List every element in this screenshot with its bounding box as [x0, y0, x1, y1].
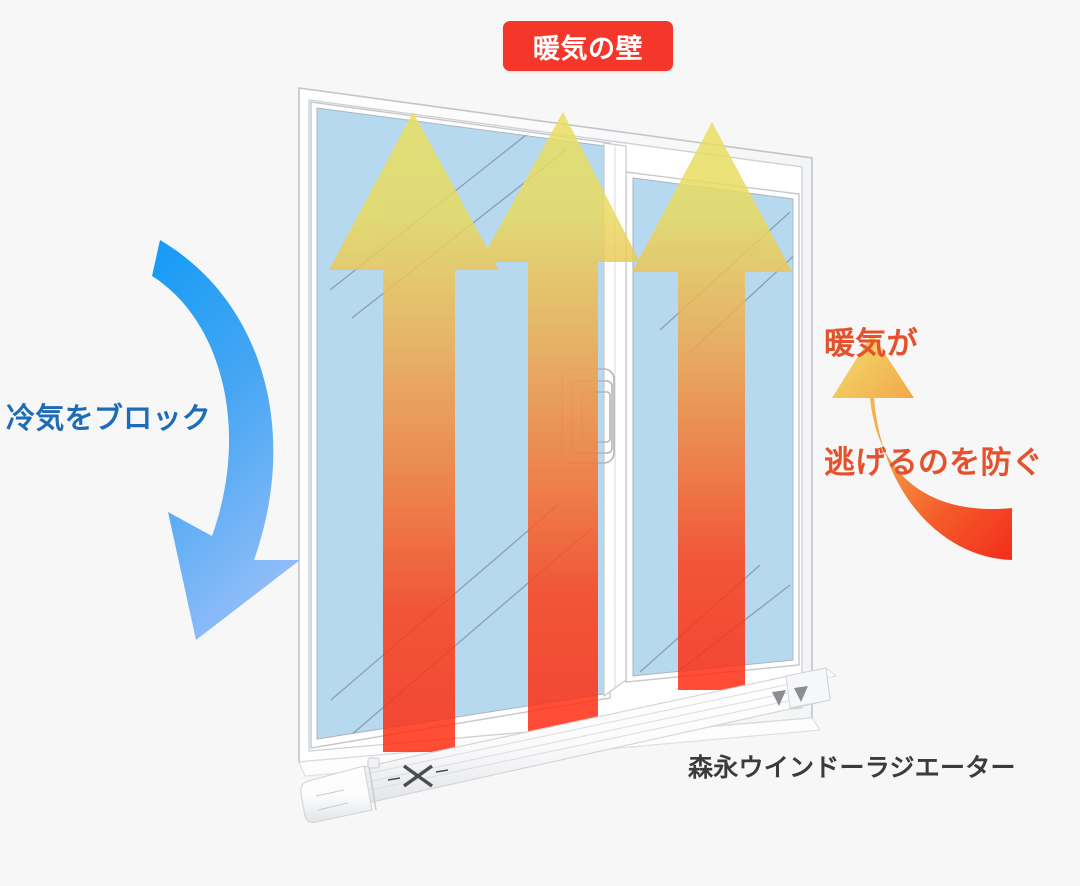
rising-heat-arrows [329, 112, 792, 752]
heat-wall-badge: 暖気の壁 [503, 21, 673, 71]
product-name-label: 森永ウインドーラジエーター [688, 752, 1016, 784]
warm-retain-caption-line2: 逃げるのを防ぐ [824, 444, 1043, 484]
cold-arrow-icon [152, 240, 300, 640]
cold-block-caption: 冷気をブロック [6, 400, 211, 437]
infographic-canvas: 暖気の壁 冷気をブロック 暖気が 逃げるのを防ぐ 森永ウインドーラジエーター [0, 0, 1080, 886]
heat-wall-badge-label: 暖気の壁 [503, 21, 673, 71]
warm-retain-caption: 暖気が 逃げるのを防ぐ [824, 246, 1043, 563]
warm-retain-caption-line1: 暖気が [824, 325, 1043, 365]
